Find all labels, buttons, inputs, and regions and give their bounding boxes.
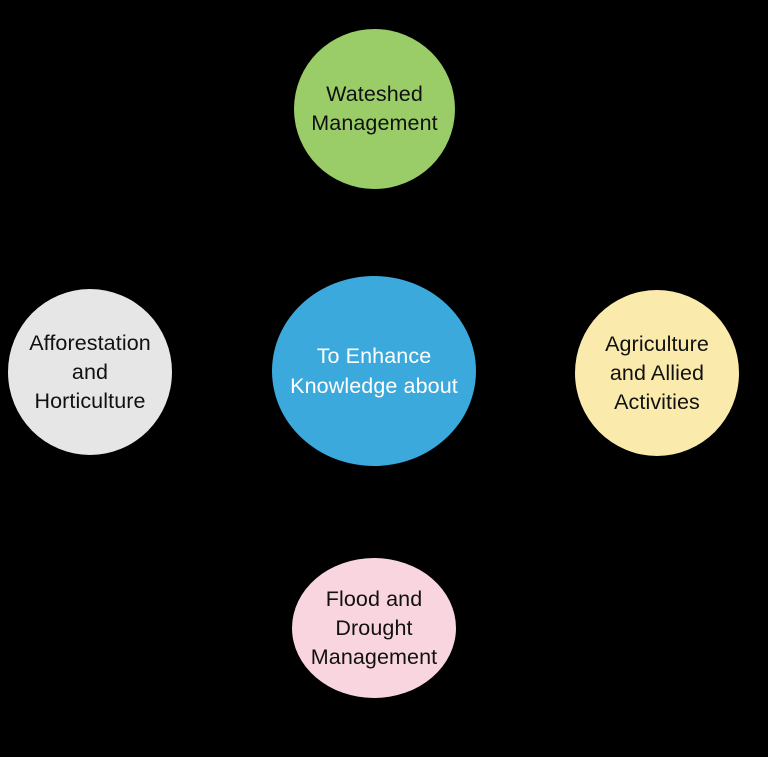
circle-node-afforestation-horticulture[interactable]: Afforestation and Horticulture	[8, 289, 172, 455]
circle-node-label: Flood and Drought Management	[305, 585, 444, 672]
circle-node-watershed-management[interactable]: Wateshed Management	[294, 29, 455, 189]
diagram-canvas: Wateshed Management Afforestation and Ho…	[0, 0, 768, 757]
circle-node-agriculture-allied-activities[interactable]: Agriculture and Allied Activities	[575, 290, 739, 456]
circle-node-center-to-enhance-knowledge[interactable]: To Enhance Knowledge about	[272, 276, 476, 466]
circle-node-label: Agriculture and Allied Activities	[599, 330, 715, 417]
circle-node-label: Afforestation and Horticulture	[23, 329, 157, 416]
circle-node-label: Wateshed Management	[305, 80, 444, 138]
circle-node-label: To Enhance Knowledge about	[284, 341, 464, 401]
circle-node-flood-drought-management[interactable]: Flood and Drought Management	[292, 558, 456, 698]
